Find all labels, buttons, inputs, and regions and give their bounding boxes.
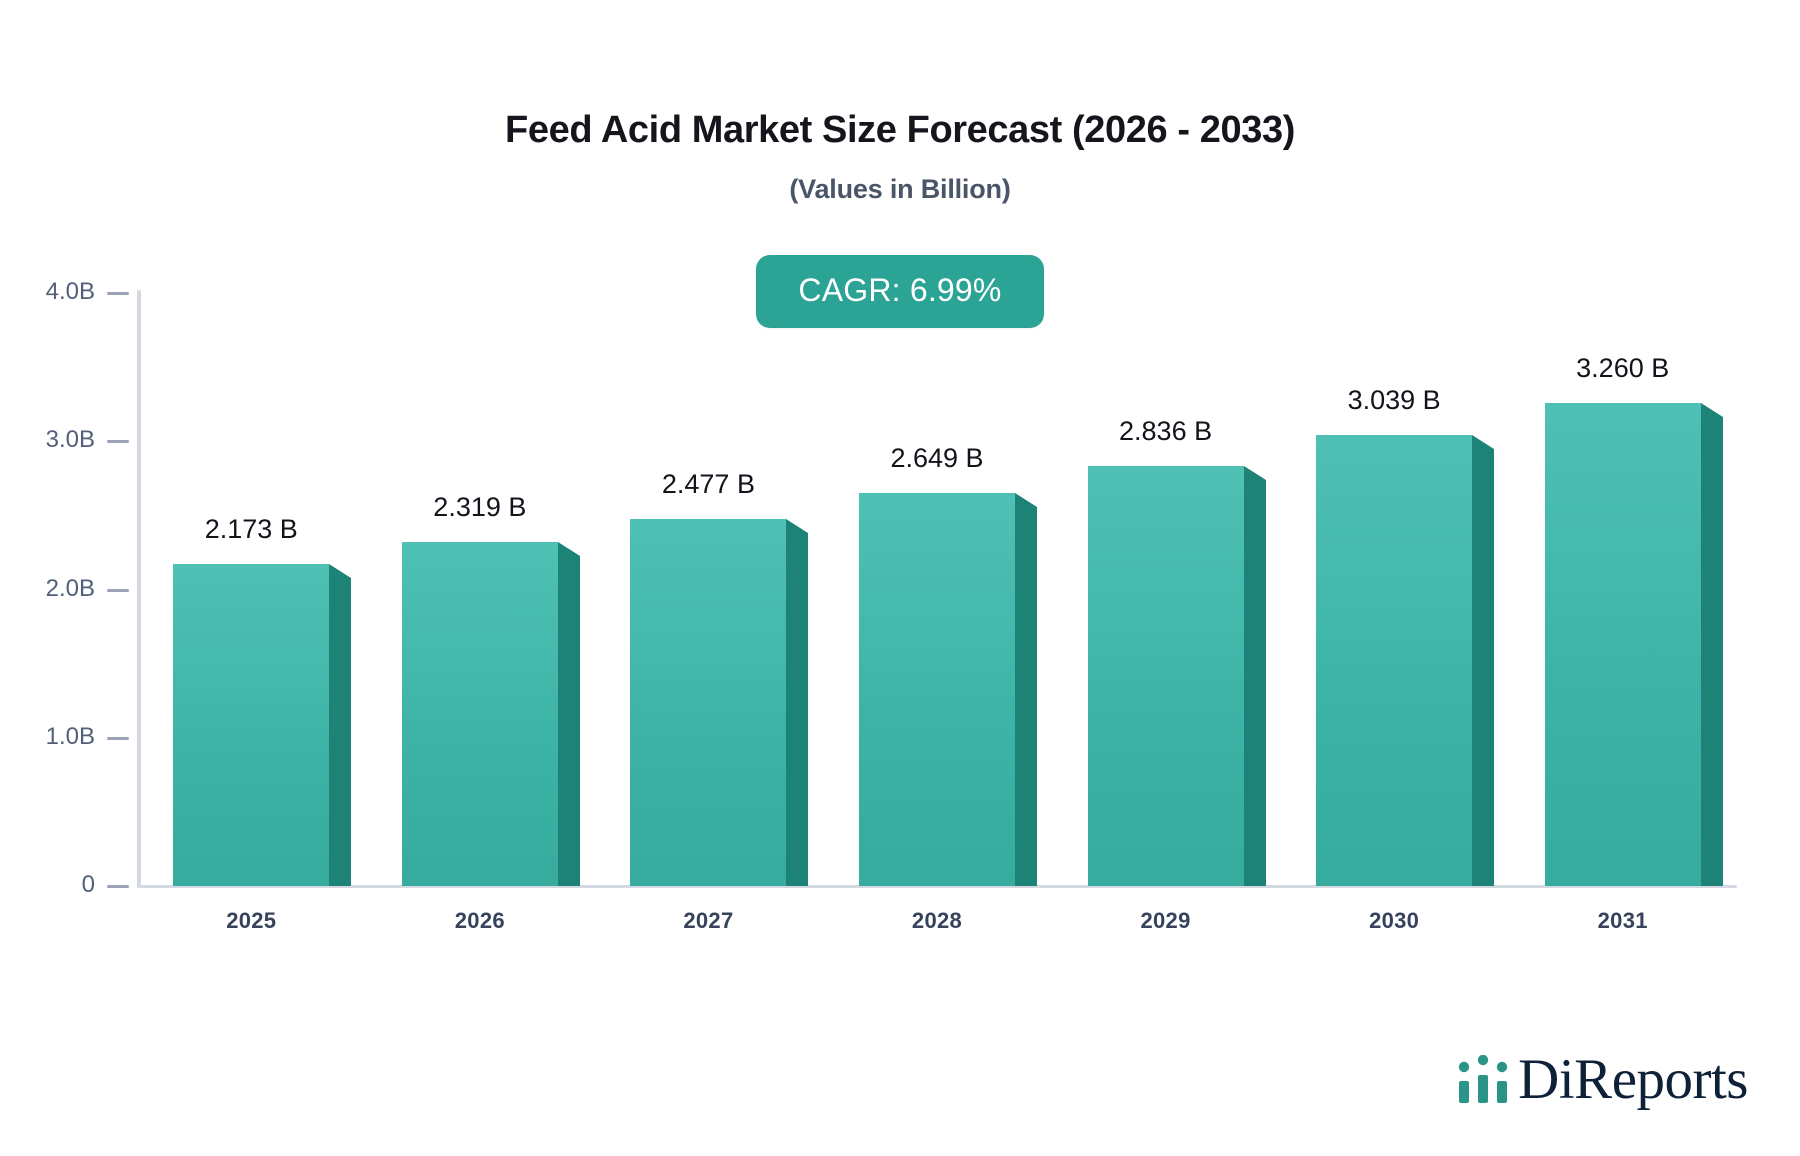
bar-3d xyxy=(1088,466,1266,886)
bar-3d xyxy=(859,493,1037,886)
bar-side-face xyxy=(1015,507,1037,886)
bar-3d xyxy=(630,519,808,886)
bar-3d xyxy=(1545,403,1723,886)
bar-group[interactable]: 2.173 B2025 xyxy=(173,0,351,1156)
y-axis-tick-label: 1.0B xyxy=(46,723,95,751)
bar-side-face xyxy=(1701,417,1723,886)
bars-layer: 2.173 B20252.319 B20262.477 B20272.649 B… xyxy=(137,0,1737,1156)
bar-group[interactable]: 2.649 B2028 xyxy=(859,0,1037,1156)
bar-value-label: 3.039 B xyxy=(1316,385,1472,416)
bar-group[interactable]: 2.477 B2027 xyxy=(630,0,808,1156)
y-axis-tick-mark xyxy=(107,440,129,443)
x-axis-label: 2030 xyxy=(1316,908,1472,934)
bar-front-face[interactable] xyxy=(859,493,1015,886)
x-axis-label: 2026 xyxy=(402,908,558,934)
x-axis-label: 2025 xyxy=(173,908,329,934)
chart-plot-area: 4.0B3.0B2.0B1.0B0 2.173 B20252.319 B2026… xyxy=(0,0,1800,1156)
bar-front-face[interactable] xyxy=(402,542,558,886)
y-axis-tick-label: 3.0B xyxy=(46,426,95,454)
bar-front-face[interactable] xyxy=(173,564,329,886)
x-axis-label: 2031 xyxy=(1545,908,1701,934)
x-axis-label: 2028 xyxy=(859,908,1015,934)
y-axis-tick-label: 2.0B xyxy=(46,575,95,603)
bar-top-bevel xyxy=(329,564,351,578)
y-axis-tick-label: 4.0B xyxy=(46,278,95,306)
y-axis-tick-mark xyxy=(107,885,129,888)
bar-3d xyxy=(173,564,351,886)
bar-value-label: 2.477 B xyxy=(630,469,786,500)
logo-text: DiReports xyxy=(1518,1051,1748,1108)
bar-front-face[interactable] xyxy=(1545,403,1701,886)
bar-value-label: 2.173 B xyxy=(173,514,329,545)
bar-front-face[interactable] xyxy=(630,519,786,886)
bar-group[interactable]: 3.039 B2030 xyxy=(1316,0,1494,1156)
y-axis-tick-mark xyxy=(107,737,129,740)
bar-top-bevel xyxy=(1701,403,1723,417)
y-axis-tick-label: 0 xyxy=(82,871,95,899)
bar-chart-logo-icon xyxy=(1456,1055,1512,1105)
bar-group[interactable]: 2.319 B2026 xyxy=(402,0,580,1156)
bar-value-label: 2.836 B xyxy=(1088,416,1244,447)
bar-side-face xyxy=(786,533,808,886)
direports-logo: DiReports xyxy=(1456,1051,1748,1108)
bar-front-face[interactable] xyxy=(1316,435,1472,886)
x-axis-label: 2029 xyxy=(1088,908,1244,934)
bar-3d xyxy=(402,542,580,886)
bar-side-face xyxy=(558,556,580,886)
bar-top-bevel xyxy=(1472,435,1494,449)
y-axis-tick-mark xyxy=(107,589,129,592)
bar-side-face xyxy=(1472,449,1494,886)
bar-side-face xyxy=(1244,480,1266,886)
bar-group[interactable]: 2.836 B2029 xyxy=(1088,0,1266,1156)
bar-front-face[interactable] xyxy=(1088,466,1244,886)
bar-group[interactable]: 3.260 B2031 xyxy=(1545,0,1723,1156)
x-axis-label: 2027 xyxy=(630,908,786,934)
bar-value-label: 2.319 B xyxy=(402,492,558,523)
bar-top-bevel xyxy=(1244,466,1266,480)
bar-side-face xyxy=(329,578,351,886)
bar-value-label: 3.260 B xyxy=(1545,353,1701,384)
y-axis-tick-mark xyxy=(107,292,129,295)
bar-top-bevel xyxy=(786,519,808,533)
bar-value-label: 2.649 B xyxy=(859,443,1015,474)
bar-top-bevel xyxy=(558,542,580,556)
bar-top-bevel xyxy=(1015,493,1037,507)
bar-3d xyxy=(1316,435,1494,886)
